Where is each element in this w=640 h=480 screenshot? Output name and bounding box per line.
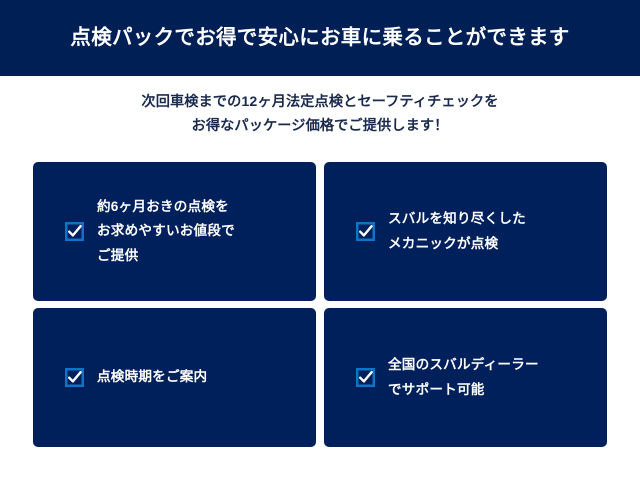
benefit-card-1-line-2: お求めやすいお値段で (97, 219, 235, 243)
benefit-card-3-content: 点検時期をご案内 (65, 365, 207, 389)
benefit-card-1-content: 約6ヶ月おきの点検を お求めやすいお値段で ご提供 (65, 195, 235, 268)
benefit-card-4[interactable]: 全国のスバルディーラー でサポート可能 (324, 308, 607, 447)
benefit-card-1-line-1: 約6ヶ月おきの点検を (97, 195, 235, 219)
benefit-cards-grid: 約6ヶ月おきの点検を お求めやすいお値段で ご提供 スバルを知り尽くした メカニ… (33, 162, 607, 447)
benefit-card-3-line-1: 点検時期をご案内 (97, 365, 207, 389)
subtitle-line-1: 次回車検までの12ヶ月法定点検とセーフティチェックを (0, 90, 640, 114)
page-title: 点検パックでお得で安心にお車に乗ることができます (70, 26, 569, 51)
benefit-card-3[interactable]: 点検時期をご案内 (33, 308, 316, 447)
checkbox-checked-icon (356, 368, 375, 387)
maintenance-pack-promo-page: 点検パックでお得で安心にお車に乗ることができます 次回車検までの12ヶ月法定点検… (0, 0, 640, 480)
benefit-card-4-line-1: 全国のスバルディーラー (388, 353, 539, 377)
benefit-card-2[interactable]: スバルを知り尽くした メカニックが点検 (324, 162, 607, 301)
benefit-card-4-line-2: でサポート可能 (388, 378, 539, 402)
header-band: 点検パックでお得で安心にお車に乗ることができます (0, 0, 640, 76)
benefit-card-4-content: 全国のスバルディーラー でサポート可能 (356, 353, 539, 401)
benefit-card-3-text: 点検時期をご案内 (97, 365, 207, 389)
checkbox-checked-icon (356, 222, 375, 241)
checkbox-checked-icon (65, 368, 84, 387)
subtitle-block: 次回車検までの12ヶ月法定点検とセーフティチェックを お得なパッケージ価格でご提… (0, 90, 640, 139)
benefit-card-2-line-1: スバルを知り尽くした (388, 207, 526, 231)
benefit-card-1[interactable]: 約6ヶ月おきの点検を お求めやすいお値段で ご提供 (33, 162, 316, 301)
benefit-card-2-text: スバルを知り尽くした メカニックが点検 (388, 207, 526, 255)
subtitle-line-2: お得なパッケージ価格でご提供します！ (0, 114, 640, 138)
checkbox-checked-icon (65, 222, 84, 241)
benefit-card-1-line-3: ご提供 (97, 244, 235, 268)
benefit-card-2-content: スバルを知り尽くした メカニックが点検 (356, 207, 526, 255)
benefit-card-4-text: 全国のスバルディーラー でサポート可能 (388, 353, 539, 401)
benefit-card-1-text: 約6ヶ月おきの点検を お求めやすいお値段で ご提供 (97, 195, 235, 268)
benefit-card-2-line-2: メカニックが点検 (388, 232, 526, 256)
